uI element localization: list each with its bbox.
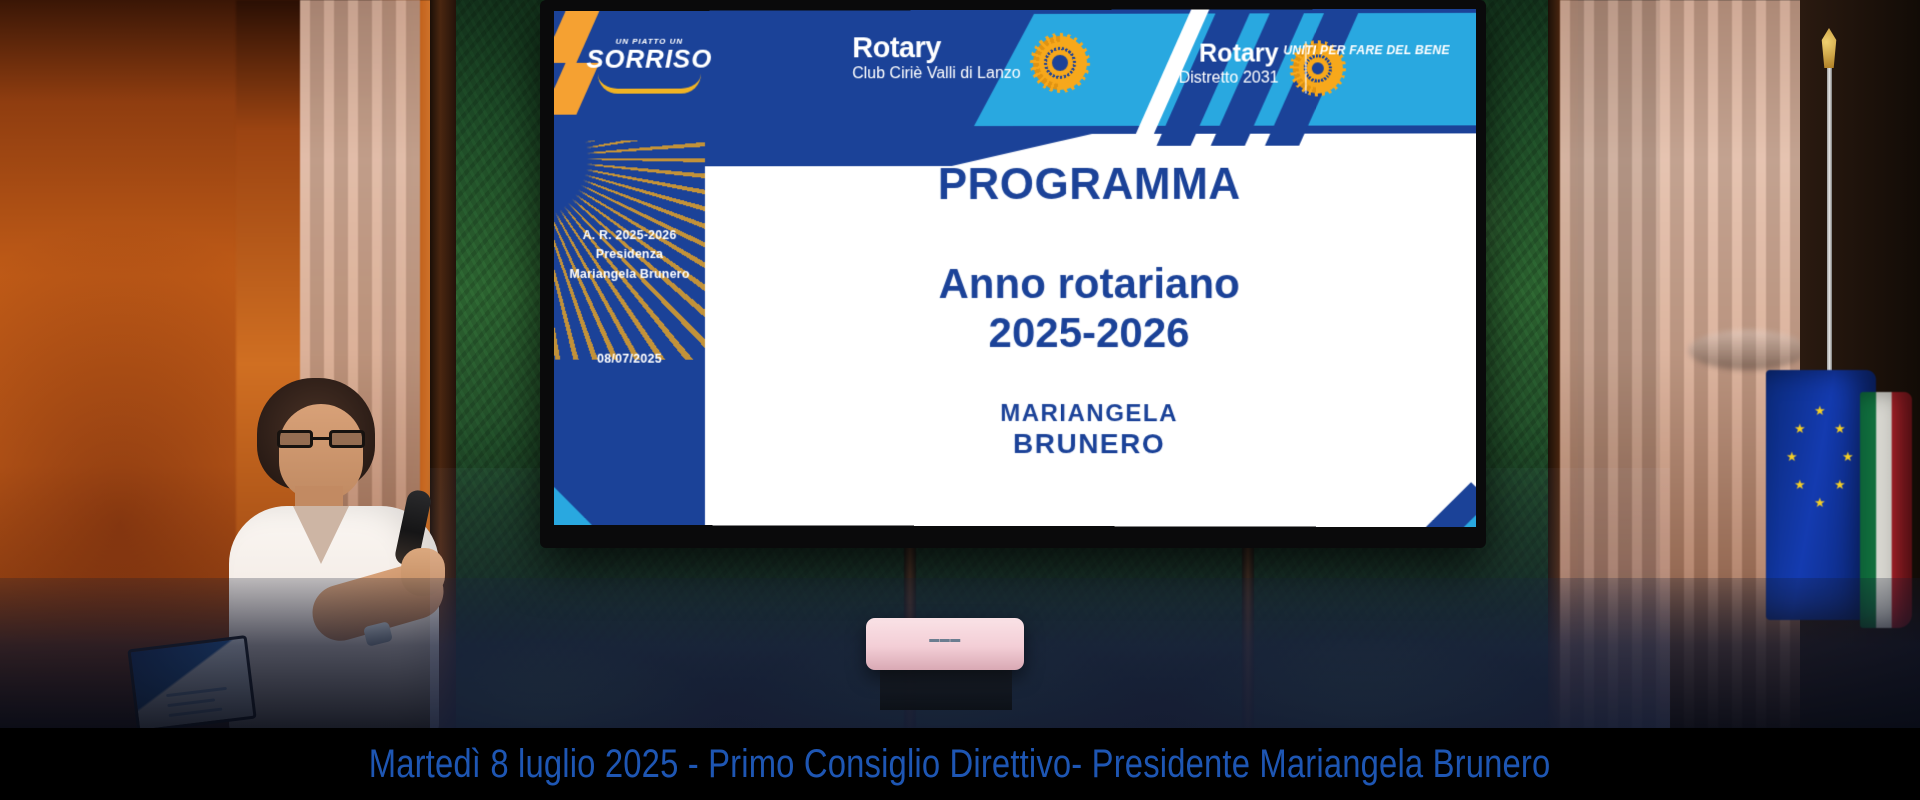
smile-icon: [598, 74, 701, 94]
sorriso-wordmark: SORRISO: [580, 46, 719, 72]
slide-subtitle: Anno rotariano 2025-2026: [705, 260, 1476, 358]
slide-corner-decoration: [1255, 376, 1476, 527]
projector-brand-label: ▬▬▬: [929, 634, 961, 645]
presentation-slide: UN PIATTO UN SORRISO Rotary Club Ciriè V…: [554, 9, 1476, 527]
club-name-label: Club Ciriè Valli di Lanzo: [852, 63, 1020, 86]
slide-sidebar: A. R. 2025-2026 Presidenza Mariangela Br…: [554, 134, 705, 525]
rotary-motto-label: UNITI PER FARE DEL BENE: [1283, 43, 1449, 58]
sidebar-text-block: A. R. 2025-2026 Presidenza Mariangela Br…: [554, 226, 705, 284]
rotary-district-lockup: Rotary Distretto 2031: [1179, 41, 1279, 90]
tv-display: UN PIATTO UN SORRISO Rotary Club Ciriè V…: [540, 0, 1486, 548]
projector-device: ▬▬▬: [866, 618, 1024, 670]
subtitle-line-2: 2025-2026: [705, 309, 1476, 358]
eyeglasses-icon: [277, 430, 369, 448]
district-brand-label: Rotary: [1179, 41, 1279, 66]
curtain-tieback: [1688, 330, 1808, 370]
photo-caption-bar: Martedì 8 luglio 2025 - Primo Consiglio …: [0, 728, 1920, 800]
district-name-label: Distretto 2031: [1179, 66, 1279, 90]
slide-number-badge: 1: [1440, 481, 1450, 501]
slide-title: PROGRAMMA: [705, 160, 1476, 211]
club-brand-label: Rotary: [852, 34, 1020, 63]
un-piatto-un-sorriso-logo: UN PIATTO UN SORRISO: [580, 37, 719, 94]
projector-stand: [880, 668, 1012, 710]
sidebar-line-3: Mariangela Brunero: [554, 265, 705, 284]
sidebar-corner-decoration: [554, 316, 705, 525]
rotary-wheel-icon: [1033, 36, 1087, 90]
sidebar-line-2: Presidenza: [554, 245, 705, 264]
rotary-club-lockup: Rotary Club Ciriè Valli di Lanzo: [852, 34, 1020, 86]
presentation-photo: ★ ★ ★ ★ ★ ★ ★ ★ ▬▬▬: [0, 0, 1920, 728]
photo-caption-text: Martedì 8 luglio 2025 - Primo Consiglio …: [369, 742, 1551, 787]
sidebar-line-1: A. R. 2025-2026: [554, 226, 705, 245]
subtitle-line-1: Anno rotariano: [705, 260, 1476, 309]
